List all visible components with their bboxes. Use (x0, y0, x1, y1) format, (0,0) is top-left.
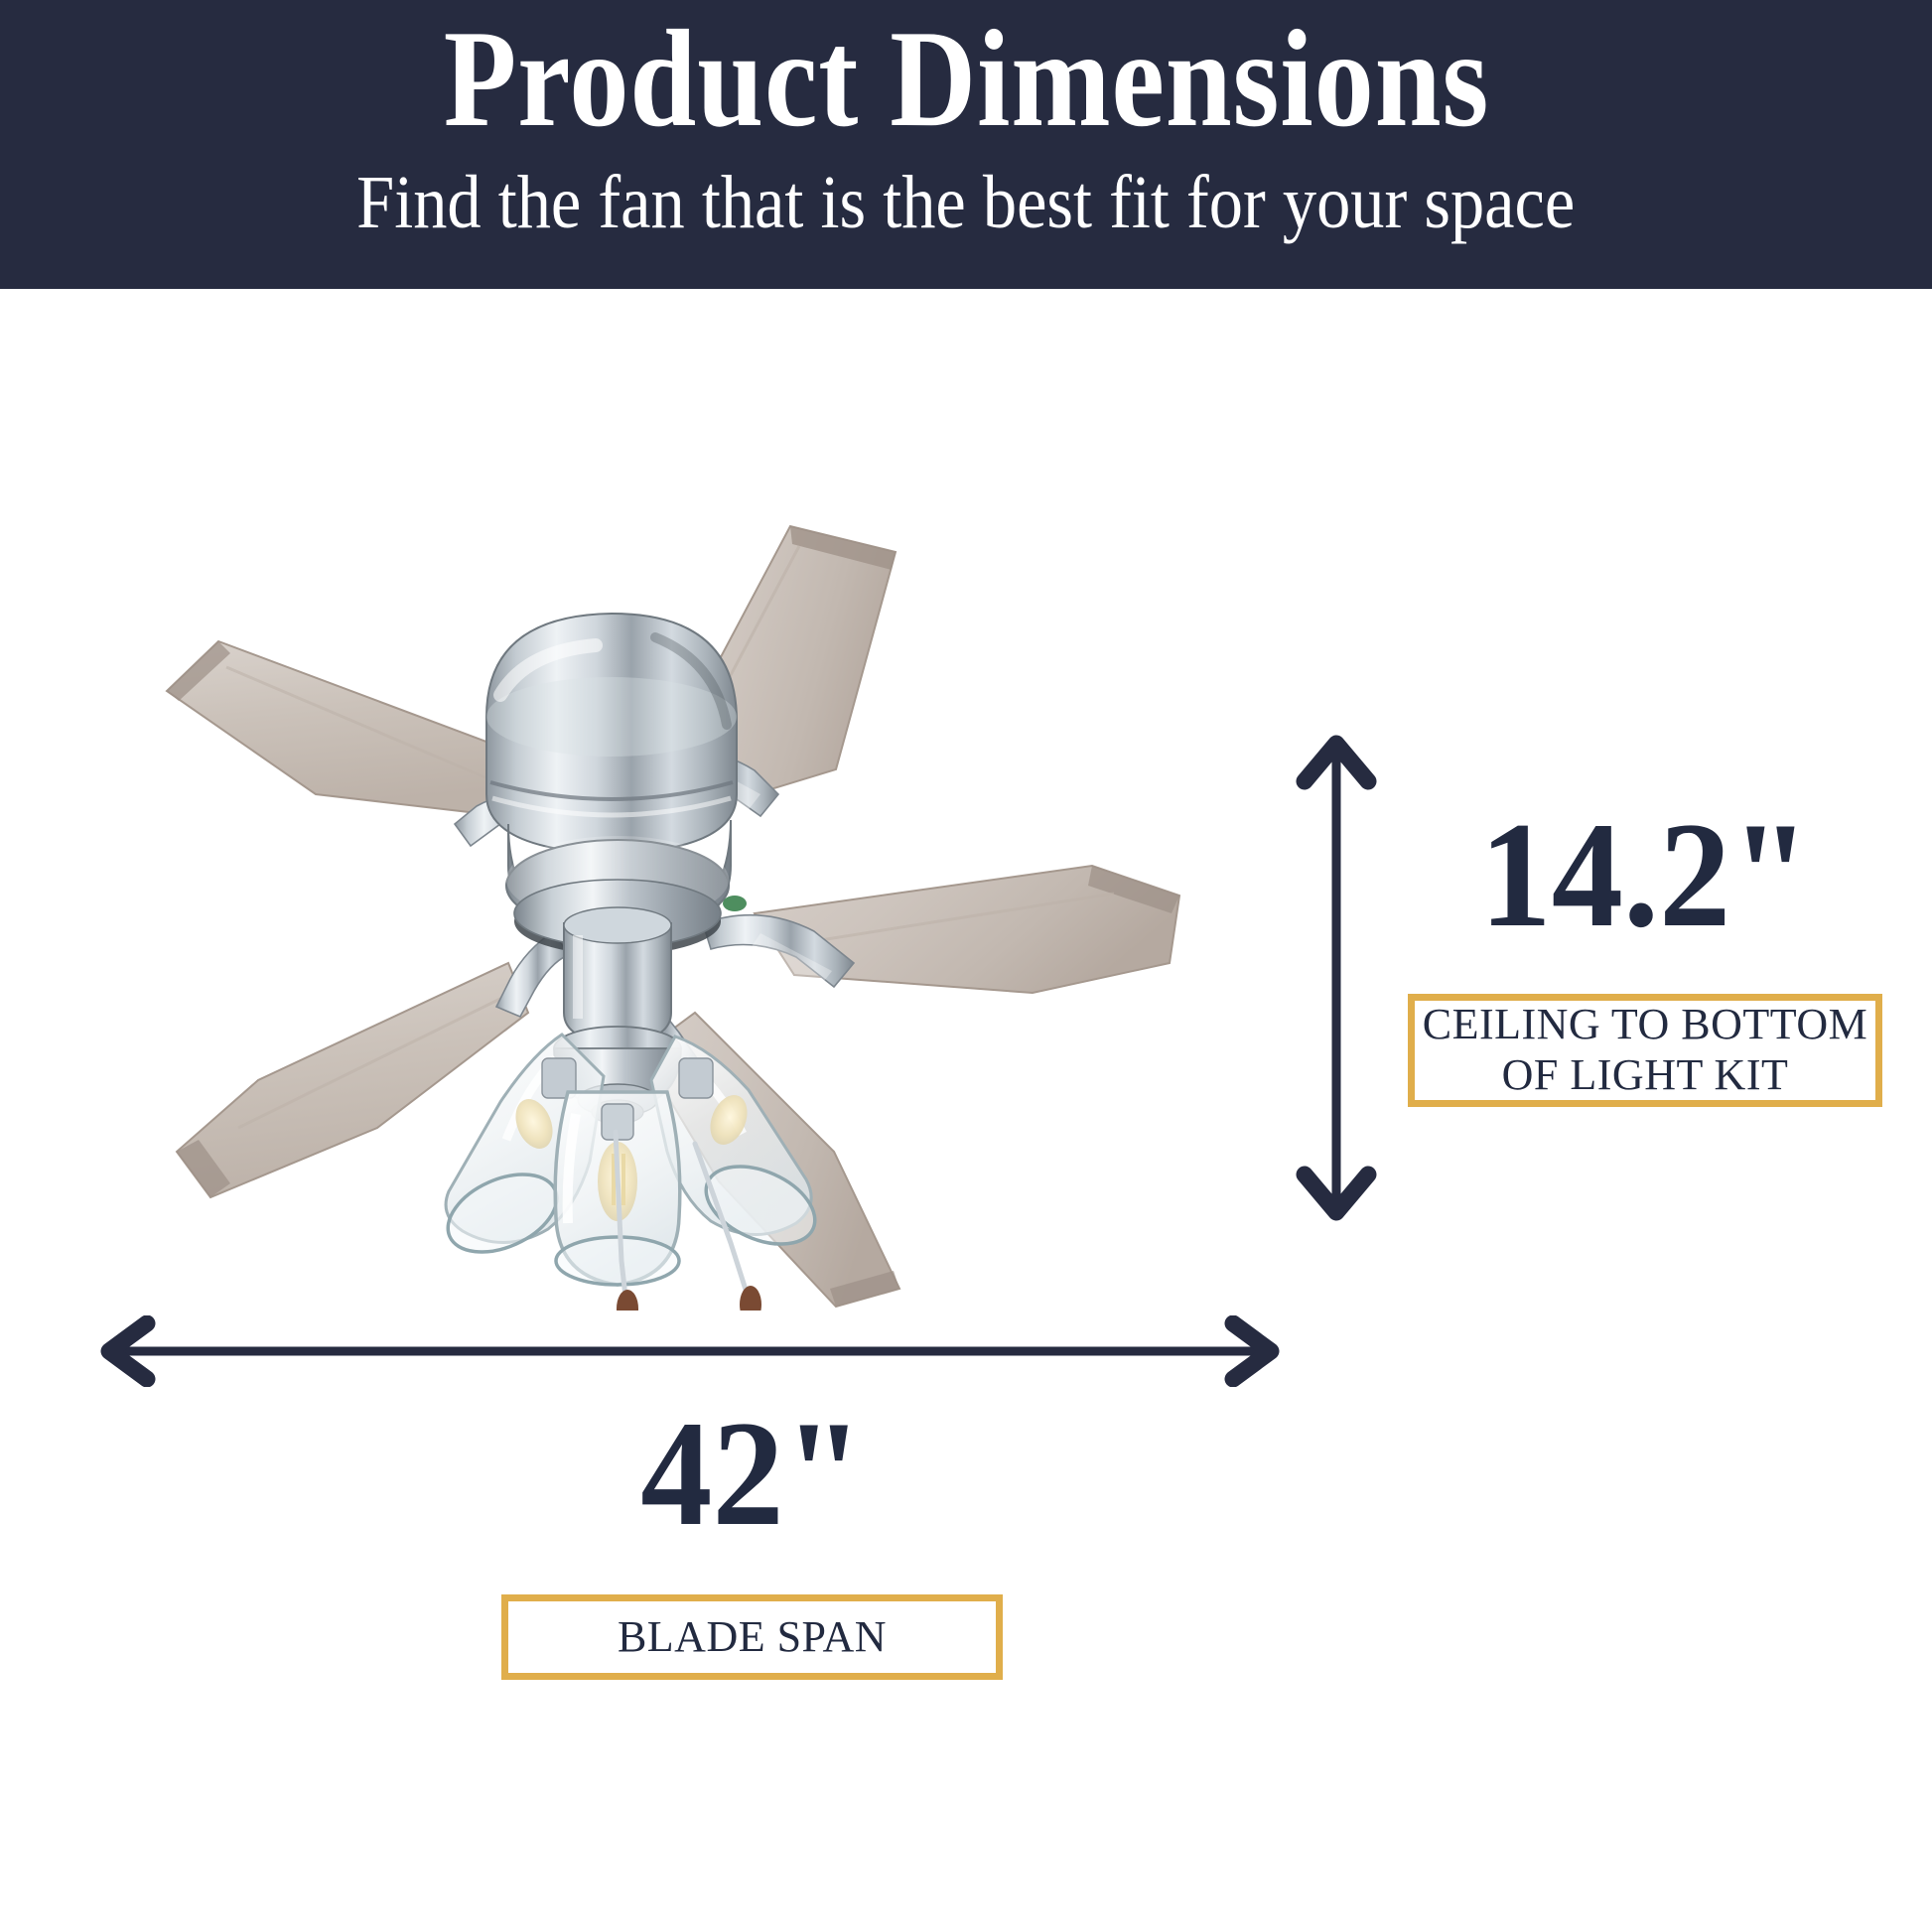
header-banner: Product Dimensions Find the fan that is … (0, 0, 1932, 289)
height-dimension-arrow (1291, 730, 1382, 1226)
ceiling-fan-illustration (60, 496, 1271, 1311)
blade-span-label-box: BLADE SPAN (501, 1594, 1003, 1680)
infographic-page: Product Dimensions Find the fan that is … (0, 0, 1932, 1932)
page-subtitle: Find the fan that is the best fit for yo… (356, 165, 1575, 240)
blade-span-callout: 42" BLADE SPAN (501, 1398, 1003, 1680)
page-title: Product Dimensions (443, 10, 1488, 149)
height-value: 14.2" (1420, 799, 1870, 950)
blade-span-dimension-arrow (89, 1315, 1291, 1387)
height-label: CEILING TO BOTTOM OF LIGHT KIT (1423, 1000, 1868, 1100)
fan-blade (167, 641, 526, 814)
height-callout: 14.2" CEILING TO BOTTOM OF LIGHT KIT (1408, 799, 1882, 1107)
product-image (60, 496, 1271, 1311)
height-label-box: CEILING TO BOTTOM OF LIGHT KIT (1408, 994, 1882, 1107)
blade-span-label: BLADE SPAN (618, 1612, 887, 1663)
blade-span-value: 42" (514, 1398, 991, 1549)
